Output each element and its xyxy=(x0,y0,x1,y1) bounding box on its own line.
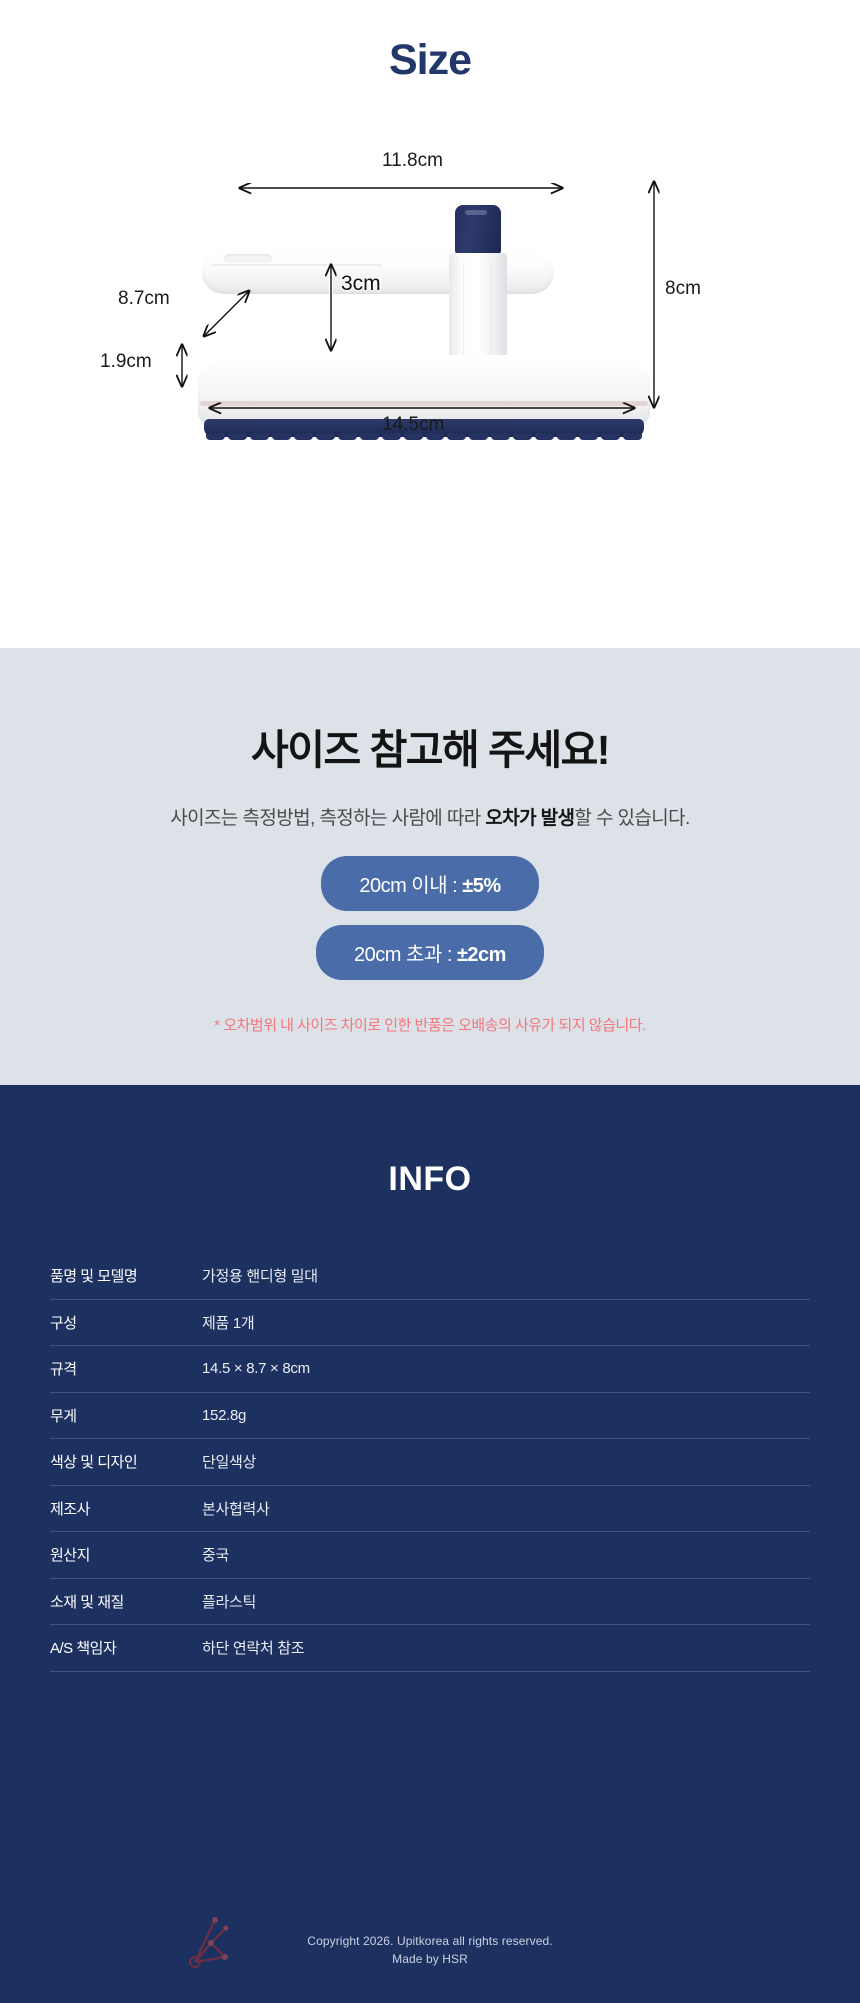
notice-subtitle-lead: 사이즈는 측정방법, 측정하는 사람에 따라 xyxy=(170,808,485,829)
spec-key: 품명 및 모델명 xyxy=(50,1265,202,1286)
dimension-label-top-width: 11.8cm xyxy=(382,150,443,172)
spec-value: 하단 연락처 참조 xyxy=(202,1637,810,1658)
product-neck xyxy=(449,253,507,371)
copyright-line-1: Copyright 2026. Upitkorea all rights res… xyxy=(307,1932,552,1951)
upitkorea-logo-icon xyxy=(185,1910,255,1972)
spec-key: 소재 및 재질 xyxy=(50,1591,202,1612)
spec-key: A/S 책임자 xyxy=(50,1637,202,1658)
tolerance-pill-over-20: 20cm 초과 : ±2cm xyxy=(0,911,860,980)
spec-key: 규격 xyxy=(50,1358,202,1379)
product-dimension-diagram: 11.8cm 8.7cm 3cm 1.9cm xyxy=(0,150,860,480)
table-row: 규격 14.5 × 8.7 × 8cm xyxy=(50,1346,810,1393)
table-row: 제조사 본사협력사 xyxy=(50,1486,810,1533)
spec-value: 중국 xyxy=(202,1544,810,1565)
dimension-label-neck-height: 3cm xyxy=(341,272,381,296)
notice-heading: 사이즈 참고해 주세요! xyxy=(0,648,860,776)
spec-value: 가정용 핸디형 밀대 xyxy=(202,1265,810,1286)
notice-subtitle-bold: 오차가 발생 xyxy=(485,808,574,829)
table-row: 구성 제품 1개 xyxy=(50,1300,810,1347)
dimension-label-total-height: 8cm xyxy=(665,278,701,300)
spec-key: 무게 xyxy=(50,1405,202,1426)
spec-value: 플라스틱 xyxy=(202,1591,810,1612)
page-title: Size xyxy=(0,36,860,85)
handle-dimple xyxy=(224,254,272,263)
size-notice-section: 사이즈 참고해 주세요! 사이즈는 측정방법, 측정하는 사람에 따라 오차가 … xyxy=(0,648,860,1085)
copyright-line-2: Made by HSR xyxy=(307,1950,552,1969)
size-section: Size 11.8cm xyxy=(0,0,860,648)
notice-subtitle: 사이즈는 측정방법, 측정하는 사람에 따라 오차가 발생할 수 있습니다. xyxy=(0,776,860,830)
dimension-arrow-depth xyxy=(196,283,258,345)
spec-value: 본사협력사 xyxy=(202,1498,810,1519)
info-title: INFO xyxy=(0,1085,860,1199)
tolerance-pill-2-value: ±2cm xyxy=(457,944,506,966)
table-row: 색상 및 디자인 단일색상 xyxy=(50,1439,810,1486)
dimension-label-depth: 8.7cm xyxy=(118,288,170,310)
handle-seam xyxy=(212,264,382,266)
tolerance-pill-1: 20cm 이내 : ±5% xyxy=(321,856,538,911)
tolerance-pill-2: 20cm 초과 : ±2cm xyxy=(316,925,544,980)
table-row: 원산지 중국 xyxy=(50,1532,810,1579)
dimension-arrow-top-width xyxy=(236,183,566,197)
tolerance-pill-1-value: ±5% xyxy=(462,875,500,897)
table-row: A/S 책임자 하단 연락처 참조 xyxy=(50,1625,810,1672)
notice-subtitle-tail: 할 수 있습니다. xyxy=(574,808,689,829)
dimension-label-base-width: 14.5cm xyxy=(382,414,444,436)
spec-key: 구성 xyxy=(50,1312,202,1333)
knob-gloss xyxy=(465,210,487,215)
footer: Copyright 2026. Upitkorea all rights res… xyxy=(0,1932,860,1969)
dimension-arrow-total-height xyxy=(648,177,662,413)
navy-knob xyxy=(455,205,501,257)
spec-value: 14.5 × 8.7 × 8cm xyxy=(202,1360,810,1377)
spec-key: 색상 및 디자인 xyxy=(50,1451,202,1472)
spec-key: 원산지 xyxy=(50,1544,202,1565)
tolerance-pill-1-label: 20cm 이내 : xyxy=(359,875,462,897)
neck-seam-right xyxy=(490,263,491,363)
spec-value: 152.8g xyxy=(202,1407,810,1424)
spec-value: 단일색상 xyxy=(202,1451,810,1472)
info-section: INFO 품명 및 모델명 가정용 핸디형 밀대 구성 제품 1개 규격 14.… xyxy=(0,1085,860,2003)
dimension-arrow-neck-height xyxy=(325,260,339,356)
table-row: 품명 및 모델명 가정용 핸디형 밀대 xyxy=(50,1253,810,1300)
dimension-label-base-height: 1.9cm xyxy=(100,351,152,373)
spec-key: 제조사 xyxy=(50,1498,202,1519)
spec-value: 제품 1개 xyxy=(202,1312,810,1333)
return-policy-warning: * 오차범위 내 사이즈 차이로 인한 반품은 오배송의 사유가 되지 않습니다… xyxy=(0,980,860,1035)
dimension-arrow-base-height xyxy=(176,340,190,392)
table-row: 소재 및 재질 플라스틱 xyxy=(50,1579,810,1626)
tolerance-pill-2-label: 20cm 초과 : xyxy=(354,944,457,966)
tolerance-pill-under-20: 20cm 이내 : ±5% xyxy=(0,830,860,911)
spec-table: 품명 및 모델명 가정용 핸디형 밀대 구성 제품 1개 규격 14.5 × 8… xyxy=(50,1253,810,1672)
table-row: 무게 152.8g xyxy=(50,1393,810,1440)
neck-seam-left xyxy=(463,263,464,363)
